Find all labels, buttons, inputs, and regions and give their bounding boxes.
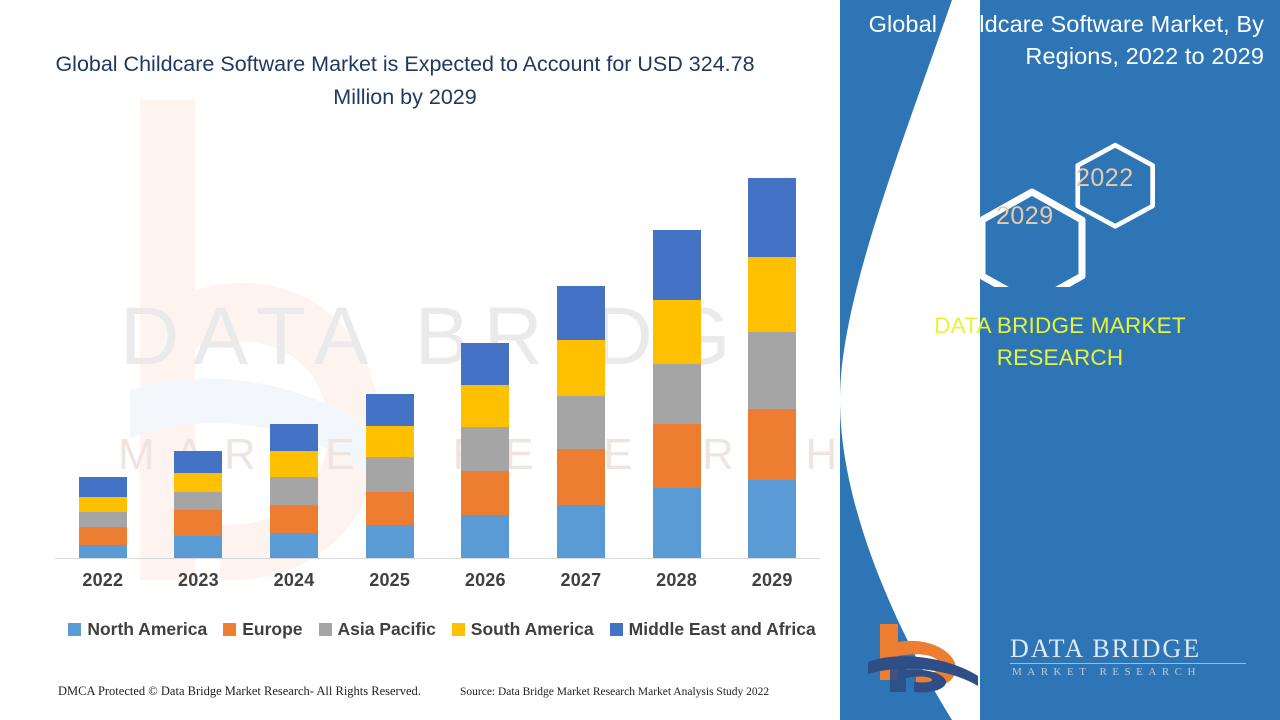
bar-2022 [79,477,127,559]
bar-segment [79,512,127,527]
bar-segment [79,527,127,544]
bar-segment [748,257,796,333]
bar-segment [653,300,701,364]
bar-2023 [174,451,222,559]
bar-segment [557,505,605,559]
bar-segment [366,525,414,559]
bar-segment [653,488,701,559]
bar-segment [557,396,605,449]
x-tick-2022: 2022 [63,570,143,591]
chart-legend: North AmericaEuropeAsia PacificSouth Ame… [52,615,832,643]
bar-segment [461,515,509,559]
bar-segment [79,545,127,559]
right-brand-panel: Global Childcare Software Market, By Reg… [840,0,1280,720]
panel-title: Global Childcare Software Market, By Reg… [860,8,1264,73]
x-axis-line [55,558,820,559]
bar-segment [366,426,414,457]
x-tick-2029: 2029 [732,570,812,591]
bar-segment [366,457,414,492]
source-text: Source: Data Bridge Market Research Mark… [460,686,769,698]
bar-2025 [366,394,414,559]
x-tick-2023: 2023 [158,570,238,591]
bar-segment [653,364,701,424]
bar-segment [461,385,509,427]
infographic-page: DATA BRIDGE MARKET RESEARCH Global Child… [0,0,1280,720]
x-tick-2025: 2025 [350,570,430,591]
stacked-bar-plot [55,160,820,559]
legend-swatch-icon [223,623,236,636]
logo-title: DATA BRIDGE [1010,634,1201,664]
bar-segment [270,424,318,451]
legend-label: Europe [242,619,302,640]
legend-label: Middle East and Africa [629,619,816,640]
x-tick-2027: 2027 [541,570,621,591]
x-axis-labels: 20222023202420252026202720282029 [55,570,820,600]
bar-segment [748,480,796,559]
legend-swatch-icon [68,623,81,636]
legend-item-europe[interactable]: Europe [223,619,302,640]
chart-title: Global Childcare Software Market is Expe… [30,48,780,115]
bar-segment [461,343,509,386]
legend-label: North America [87,619,207,640]
chart-area: DATA BRIDGE MARKET RESEARCH Global Child… [0,0,900,720]
bar-segment [79,497,127,512]
bar-segment [748,178,796,257]
bar-segment [461,427,509,471]
bar-segment [79,477,127,496]
hexagon-2029-label: 2029 [996,202,1054,231]
brand-name: DATA BRIDGE MARKET RESEARCH [880,310,1240,374]
bar-segment [270,505,318,534]
bar-segment [174,510,222,536]
bar-segment [270,451,318,478]
bar-segment [174,536,222,559]
legend-item-south-america[interactable]: South America [452,619,594,640]
bar-segment [366,492,414,526]
hexagon-2022-label: 2022 [1076,164,1134,193]
bar-segment [557,340,605,395]
logo-subtitle: MARKET RESEARCH [1012,666,1201,678]
bar-segment [653,230,701,299]
x-tick-2024: 2024 [254,570,334,591]
bar-2027 [557,286,605,559]
bar-segment [557,449,605,505]
hexagon-shapes [960,142,1180,287]
legend-label: Asia Pacific [338,619,436,640]
company-logo: DATA BRIDGE MARKET RESEARCH [860,618,1260,704]
bar-segment [461,471,509,515]
legend-swatch-icon [610,623,623,636]
x-tick-2028: 2028 [637,570,717,591]
logo-mark-icon [860,618,1000,698]
bar-segment [748,409,796,480]
bar-segment [174,492,222,510]
legend-label: South America [471,619,594,640]
legend-item-middle-east-and-africa[interactable]: Middle East and Africa [610,619,816,640]
hexagon-group: 2029 2022 [960,142,1180,287]
bar-segment [270,533,318,559]
copyright-text: DMCA Protected © Data Bridge Market Rese… [58,684,421,699]
bar-2029 [748,178,796,559]
legend-item-asia-pacific[interactable]: Asia Pacific [319,619,436,640]
x-tick-2026: 2026 [445,570,525,591]
bar-segment [653,424,701,488]
bar-segment [270,477,318,505]
bar-segment [174,451,222,474]
bar-segment [748,332,796,409]
legend-item-north-america[interactable]: North America [68,619,207,640]
bar-segment [557,286,605,340]
bar-segment [174,473,222,491]
bar-segment [366,394,414,427]
legend-swatch-icon [319,623,332,636]
bar-2026 [461,343,509,559]
bar-2024 [270,424,318,559]
bar-2028 [653,230,701,559]
legend-swatch-icon [452,623,465,636]
